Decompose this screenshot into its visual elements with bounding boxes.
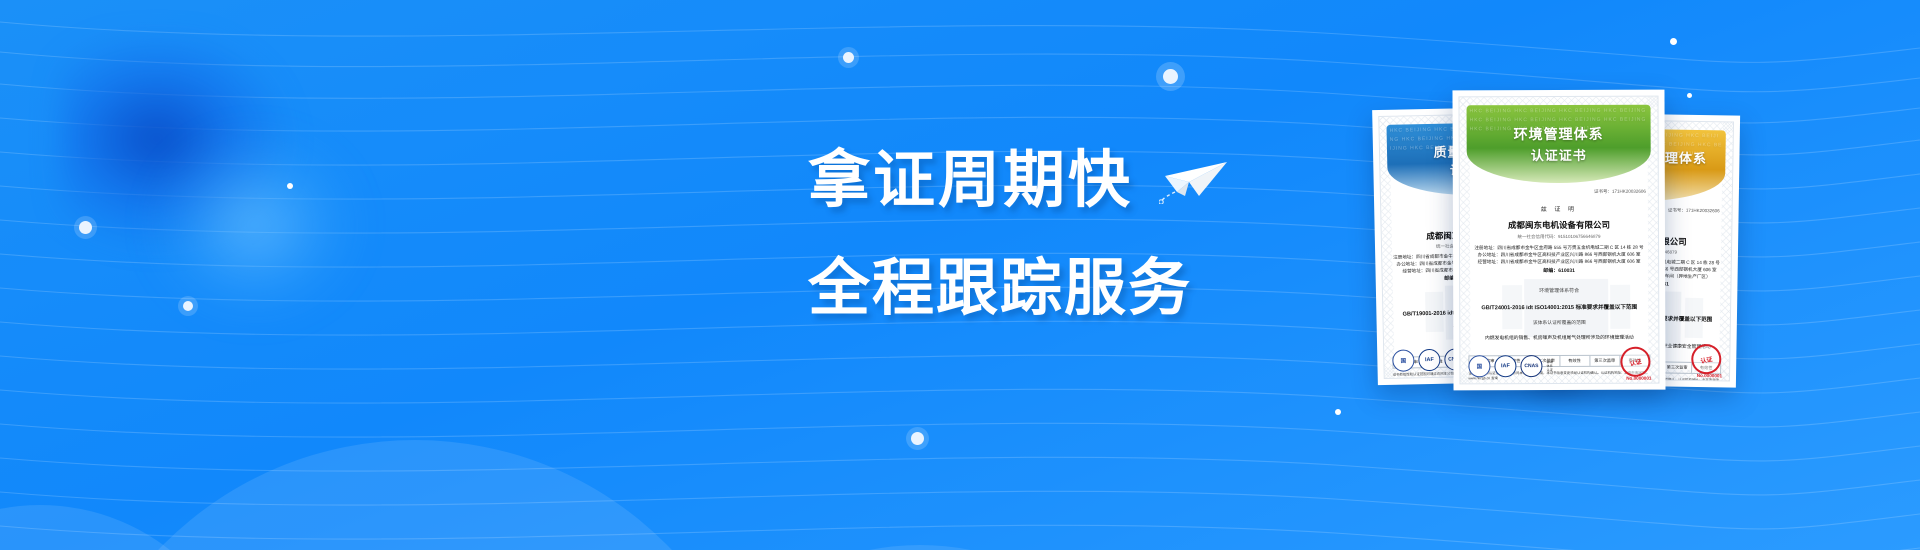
decor-dot bbox=[79, 221, 92, 234]
accreditation-text: 管理体系认证 bbox=[1546, 360, 1552, 372]
iaf-logo: IAF bbox=[1418, 349, 1440, 371]
certificate-header-banner: HKC BEIJING HKC BEIJING HKC BEIJING HKC … bbox=[1467, 105, 1651, 184]
certificate-standard: GB/T24001-2016 idt ISO14001:2015 标准要求并覆盖… bbox=[1460, 303, 1658, 312]
certificate-title-line2: 认证证书 bbox=[1531, 145, 1587, 164]
paper-plane-icon bbox=[1159, 152, 1233, 204]
cma-logo: 国 bbox=[1392, 349, 1414, 371]
certificate-scope-label: 该体系认证所覆盖的范围 bbox=[1460, 319, 1658, 327]
headline-row-1: 拿证周期快 bbox=[808, 142, 1328, 220]
certificates-group: HKC BEIJING HKC BEIJING HKC BEIJING HKC … bbox=[1375, 78, 1920, 418]
decor-dot bbox=[911, 432, 924, 445]
iaf-logo: IAF bbox=[1494, 355, 1516, 377]
background-glow-light bbox=[150, 130, 360, 320]
cma-logo: 国 bbox=[1468, 355, 1490, 377]
certificate-environment[interactable]: HKC BEIJING HKC BEIJING HKC BEIJING HKC … bbox=[1452, 90, 1665, 391]
decor-dot bbox=[183, 301, 193, 311]
decor-dot bbox=[1163, 69, 1178, 84]
certificate-uscc: 统一社会信用代码：91510106756646879 bbox=[1460, 234, 1658, 241]
decor-dot bbox=[287, 183, 293, 189]
headline-line-2: 全程跟踪服务 bbox=[808, 250, 1328, 328]
headline-line-1: 拿证周期快 bbox=[808, 142, 1133, 220]
certificate-serial: No.0000001 bbox=[1626, 376, 1651, 381]
certificate-serial: No.0000001 bbox=[1697, 373, 1722, 378]
decor-dot bbox=[1335, 409, 1341, 415]
decor-dot bbox=[843, 52, 854, 63]
certificate-company-name: 成都闽东电机设备有限公司 bbox=[1460, 219, 1658, 232]
headline-block: 拿证周期快 全程跟踪服务 bbox=[808, 142, 1328, 328]
certificate-scope: 内燃发电机组的销售、机房噪声及机组尾气处理所涉及的环境管理活动 bbox=[1466, 335, 1652, 343]
certificate-proof-label: 兹 证 明 bbox=[1460, 204, 1658, 214]
grid-cell: 有效性 bbox=[1560, 356, 1590, 366]
certificate-title-line1: 环境管理体系 bbox=[1514, 124, 1604, 144]
grid-cell: 第三次监审 bbox=[1590, 356, 1620, 366]
certificate-postcode: 邮编：610031 bbox=[1460, 267, 1658, 275]
certificate-system-name: 环境管理体系符合 bbox=[1460, 287, 1658, 295]
cnas-logo: CNAS bbox=[1520, 355, 1542, 377]
certificate-logos: 国 IAF CNAS 管理体系认证 bbox=[1468, 355, 1552, 377]
hero-banner: 拿证周期快 全程跟踪服务 bbox=[0, 0, 1920, 550]
certificate-number: 证书号：171HK20032606 bbox=[1668, 208, 1720, 215]
decor-dot bbox=[1670, 38, 1677, 45]
certificate-number: 证书号：171HK20032606 bbox=[1594, 189, 1646, 195]
grid-cell: 第三次监审 bbox=[1663, 362, 1692, 372]
certificate-address-3: 经营地址：四川省成都市金牛区高科技产业区兴川路 866 号西部钢机大厦 606 … bbox=[1468, 258, 1650, 266]
